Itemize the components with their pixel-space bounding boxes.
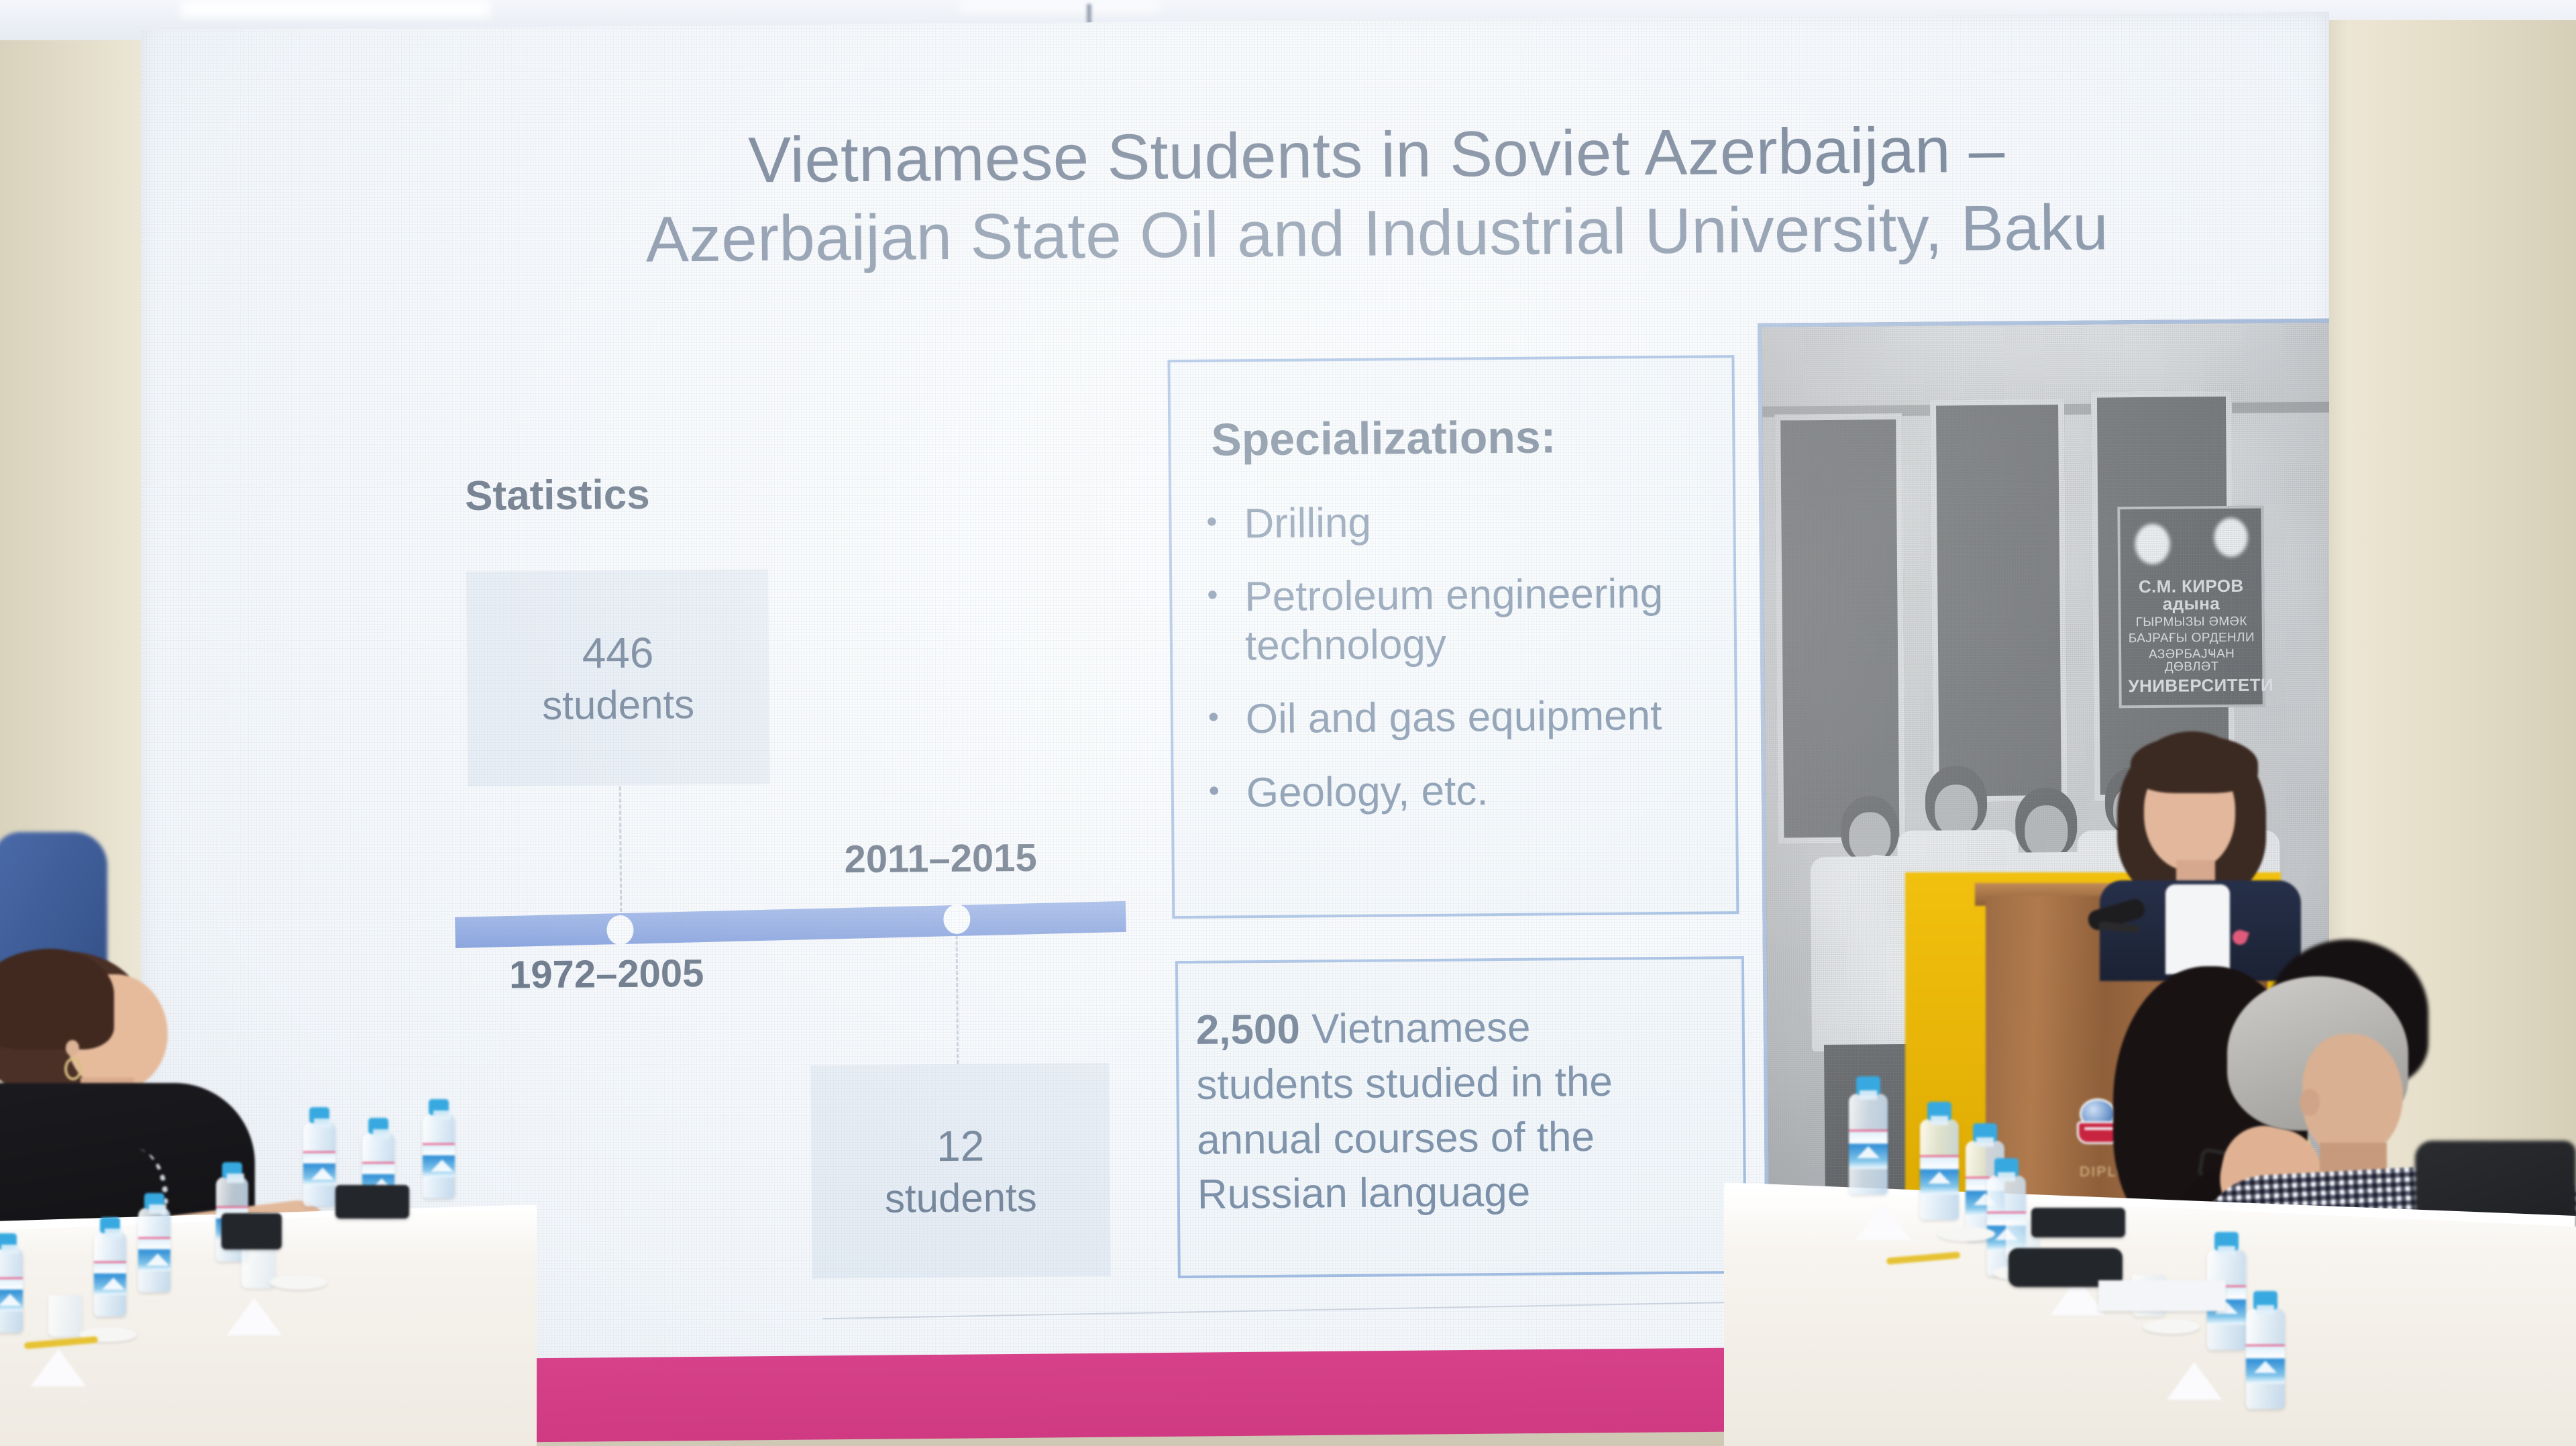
bottle-neck xyxy=(1998,1172,2015,1182)
stat-box-12: 12 students xyxy=(810,1063,1111,1279)
timeline-label-1972-2005: 1972–2005 xyxy=(509,951,704,997)
bottle-neck xyxy=(227,1174,244,1183)
bottle-neck xyxy=(373,1129,390,1139)
bottle-label xyxy=(303,1151,335,1185)
drinking-glass xyxy=(48,1295,82,1337)
stat-unit-12: students xyxy=(885,1172,1037,1223)
stat-number-446: 446 xyxy=(582,625,653,680)
note-emphasis: 2,500 xyxy=(1195,1006,1300,1053)
timeline-bar xyxy=(455,901,1126,948)
bottle-neck xyxy=(433,1111,451,1120)
timeline-marker-1 xyxy=(606,915,633,945)
bottle-label xyxy=(0,1278,23,1311)
speaker-at-podium xyxy=(2093,731,2314,966)
bottle-label xyxy=(1920,1155,1959,1194)
bullet-icon: • xyxy=(1191,499,1244,544)
specializations-heading: Specializations: xyxy=(1211,411,1556,466)
statistics-heading: Statistics xyxy=(465,471,650,520)
earring-icon xyxy=(64,1057,82,1080)
ceiling-light xyxy=(181,0,490,17)
timeline-leader-line-2 xyxy=(956,935,959,1064)
ceiling-light-secondary xyxy=(959,0,1161,12)
specialization-label: Drilling xyxy=(1244,495,1722,548)
stat-box-446: 446 students xyxy=(466,569,770,786)
bottle-label xyxy=(1849,1130,1888,1169)
bottle-neck xyxy=(1931,1116,1948,1125)
bottle-neck xyxy=(2257,1305,2274,1314)
bullet-icon: • xyxy=(1193,695,1246,739)
bottle-label xyxy=(138,1237,170,1271)
list-item: • Oil and gas equipment xyxy=(1193,691,1724,745)
specializations-list: • Drilling • Petroleum engineering techn… xyxy=(1191,495,1724,841)
timeline-marker-2 xyxy=(943,905,970,934)
attendee-grey-ear xyxy=(2300,1089,2320,1116)
saucer xyxy=(270,1275,327,1290)
speaker-hair-front xyxy=(2131,735,2258,793)
bottle-neck xyxy=(314,1119,331,1128)
water-bottle xyxy=(423,1114,455,1198)
bottle-neck xyxy=(1976,1137,1994,1147)
stat-unit-446: students xyxy=(542,679,694,731)
bottle-label xyxy=(94,1261,126,1295)
water-bottle xyxy=(138,1208,170,1292)
saucer xyxy=(2143,1319,2200,1334)
water-bottle xyxy=(303,1122,335,1206)
timeline-leader-line-1 xyxy=(619,786,623,918)
list-item: • Drilling xyxy=(1191,495,1722,549)
slide-title-line-1: Vietnamese Students in Soviet Azerbaijan… xyxy=(517,109,2235,202)
timeline-label-2011-2015: 2011–2015 xyxy=(844,835,1037,882)
list-item: • Petroleum engineering technology xyxy=(1192,568,1723,671)
list-item: • Geology, etc. xyxy=(1194,764,1725,818)
water-bottle xyxy=(1920,1119,1959,1220)
bottle-neck xyxy=(2218,1246,2235,1255)
camera-device xyxy=(335,1185,409,1219)
attendee-left-hair-front xyxy=(0,949,114,1049)
water-bottle xyxy=(0,1248,23,1333)
speaker-shirt xyxy=(2165,884,2230,974)
water-bottle xyxy=(94,1232,126,1316)
slide-title: Vietnamese Students in Soviet Azerbaijan… xyxy=(517,109,2236,280)
specialization-label: Oil and gas equipment xyxy=(1246,691,1724,744)
camera-device xyxy=(221,1213,282,1249)
specialization-label: Geology, etc. xyxy=(1246,764,1724,817)
water-bottle xyxy=(1849,1094,1888,1194)
specialization-label: Petroleum engineering technology xyxy=(1244,568,1723,670)
bottle-label xyxy=(423,1143,455,1177)
stat-number-12: 12 xyxy=(936,1119,985,1173)
bullet-icon: • xyxy=(1192,572,1245,617)
bottle-neck xyxy=(1860,1090,1877,1100)
water-bottle xyxy=(2246,1308,2285,1409)
camera-device xyxy=(2031,1208,2125,1237)
bottle-neck xyxy=(1,1245,19,1254)
bottle-neck xyxy=(149,1204,166,1214)
bullet-icon: • xyxy=(1194,768,1247,813)
slide-hairline xyxy=(822,1301,1762,1319)
conference-room-scene: Vietnamese Students in Soviet Azerbaijan… xyxy=(0,0,2576,1446)
bottle-label xyxy=(2246,1345,2285,1384)
right-table xyxy=(1724,1188,2576,1446)
slide-title-line-2: Azerbaijan State Oil and Industrial Univ… xyxy=(518,187,2236,280)
note-text: 2,500 Vietnamese students studied in the… xyxy=(1195,999,1694,1223)
papers xyxy=(2098,1280,2226,1311)
attendee-left-ear xyxy=(66,1040,79,1056)
saucer xyxy=(1937,1227,1995,1241)
bottle-neck xyxy=(105,1229,122,1238)
